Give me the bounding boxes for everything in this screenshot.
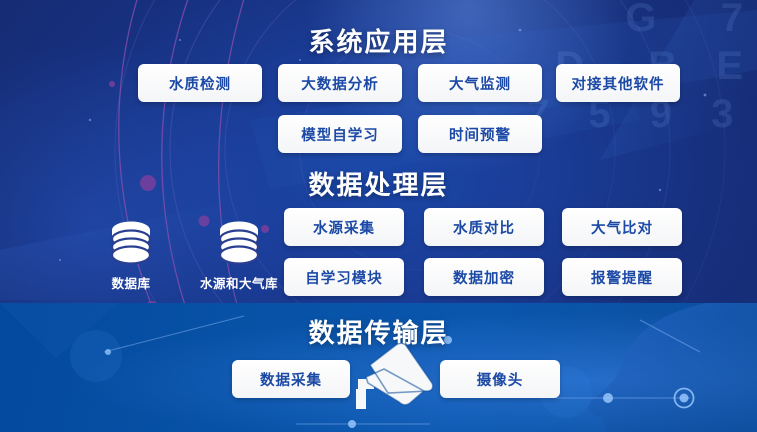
pill-time-warning[interactable]: 时间预警 <box>418 115 542 153</box>
pill-water-source-collection[interactable]: 水源采集 <box>284 208 404 246</box>
pill-alarm-reminder[interactable]: 报警提醒 <box>562 258 682 296</box>
storage-label-water-air: 水源和大气库 <box>200 273 278 292</box>
pill-self-learning-module[interactable]: 自学习模块 <box>284 258 404 296</box>
database-icon <box>216 220 262 268</box>
storage-item-water-air: 水源和大气库 <box>200 220 278 292</box>
application-layer-title: 系统应用层 <box>0 22 757 59</box>
database-icon <box>108 220 154 268</box>
pill-data-collection[interactable]: 数据采集 <box>232 360 350 398</box>
pill-atmosphere-monitoring[interactable]: 大气监测 <box>418 64 542 102</box>
pill-big-data-analysis[interactable]: 大数据分析 <box>278 64 402 102</box>
storage-label-database: 数据库 <box>111 273 150 292</box>
processing-layer-title: 数据处理层 <box>0 165 757 202</box>
storage-item-database: 数据库 <box>108 220 154 292</box>
pill-data-encryption[interactable]: 数据加密 <box>424 258 544 296</box>
pill-model-self-learning[interactable]: 模型自学习 <box>278 115 402 153</box>
pill-atmosphere-comparison[interactable]: 大气比对 <box>562 208 682 246</box>
infographic-canvas: G 7 D B E 7 5 9 3 6 <box>0 0 757 432</box>
pill-water-quality-comparison[interactable]: 水质对比 <box>424 208 544 246</box>
security-camera-icon <box>348 343 444 416</box>
pill-water-quality-detection[interactable]: 水质检测 <box>138 64 262 102</box>
security-camera-glyph <box>348 343 444 411</box>
pill-third-party-integration[interactable]: 对接其他软件 <box>556 64 680 102</box>
pill-camera[interactable]: 摄像头 <box>440 360 560 398</box>
